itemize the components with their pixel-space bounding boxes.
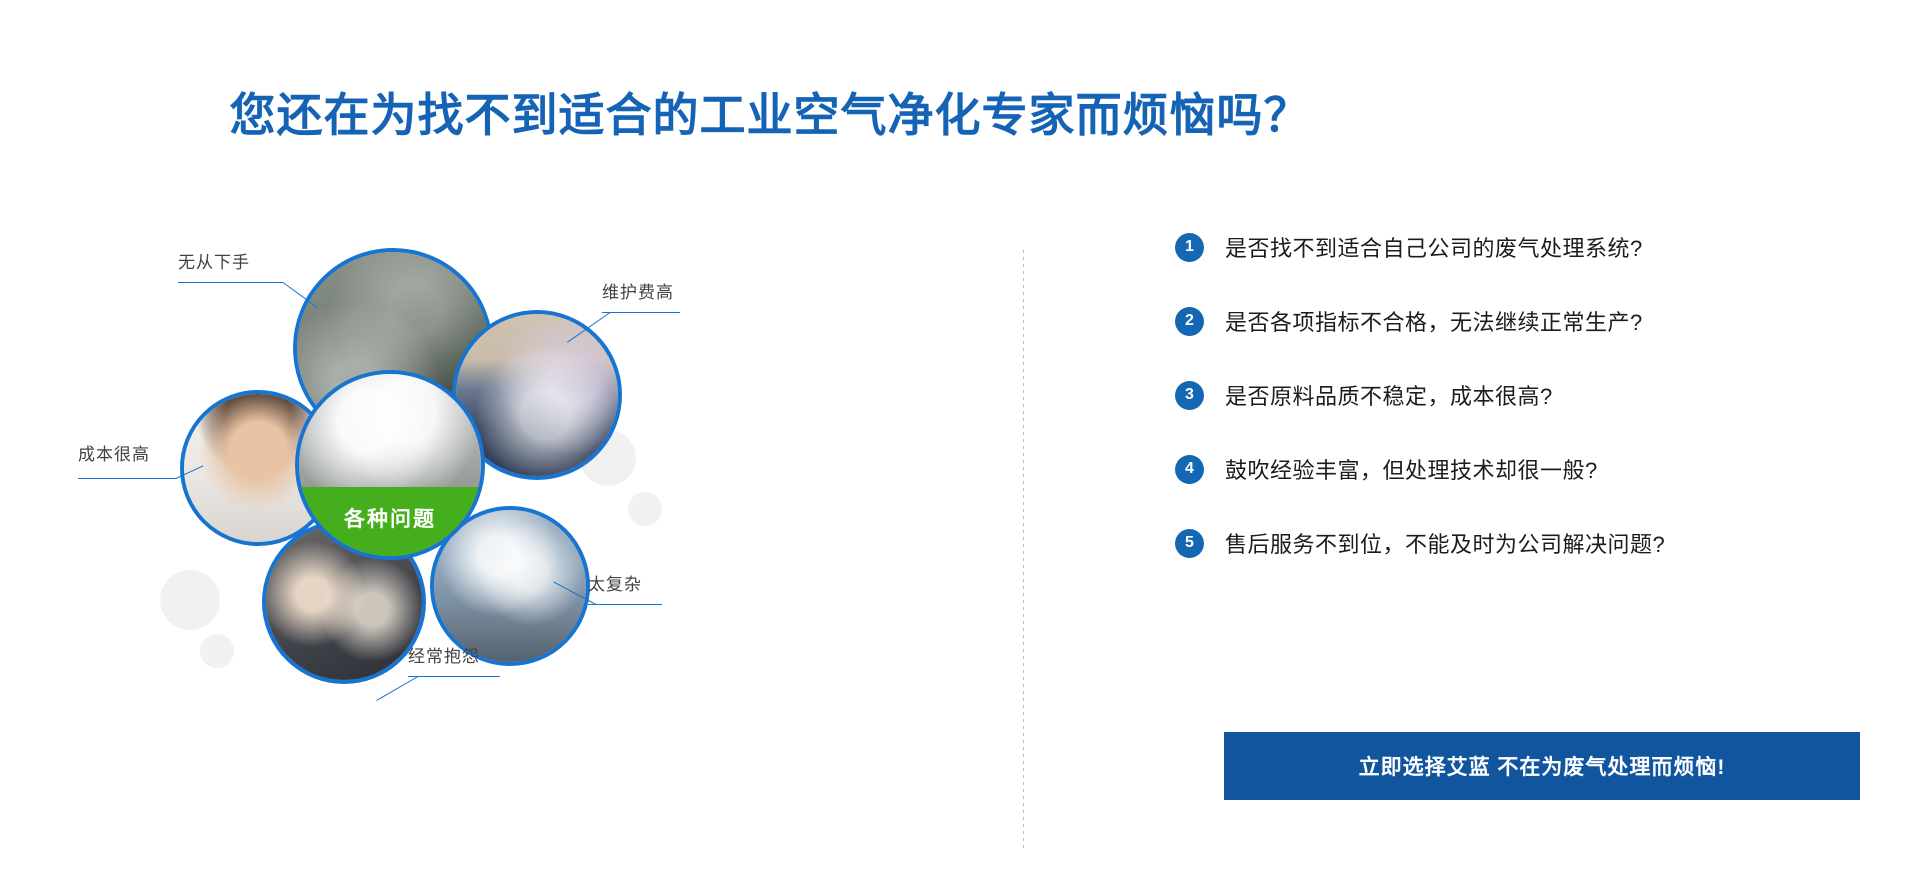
- promo-banner: 您还在为找不到适合的工业空气净化专家而烦恼吗？ 各种问题: [0, 0, 1920, 875]
- callout-label: 维护费高: [602, 278, 674, 303]
- leader-line: [408, 676, 500, 677]
- list-item: 4 鼓吹经验丰富，但处理技术却很一般?: [1175, 432, 1875, 506]
- list-item-label: 售后服务不到位，不能及时为公司解决问题?: [1225, 527, 1665, 559]
- page-title: 您还在为找不到适合的工业空气净化专家而烦恼吗？: [0, 88, 1540, 143]
- problem-list: 1 是否找不到适合自己公司的废气处理系统? 2 是否各项指标不合格，无法继续正常…: [1175, 210, 1875, 580]
- decorative-circle: [200, 634, 234, 668]
- callout-label: 经常抱怨: [408, 642, 480, 667]
- callout-label: 成本很高: [78, 440, 150, 465]
- leader-line: [78, 478, 176, 479]
- cta-button[interactable]: 立即选择艾蓝 不在为废气处理而烦恼!: [1224, 732, 1860, 800]
- bubble-center-problems: 各种问题: [295, 370, 485, 560]
- decorative-circle: [628, 492, 662, 526]
- vertical-divider: [1023, 250, 1024, 850]
- list-item-label: 是否原料品质不稳定，成本很高?: [1225, 379, 1553, 411]
- list-item-badge: 4: [1175, 455, 1204, 484]
- list-item-label: 是否各项指标不合格，无法继续正常生产?: [1225, 305, 1643, 337]
- list-item: 1 是否找不到适合自己公司的废气处理系统?: [1175, 210, 1875, 284]
- callout-label: 无从下手: [178, 248, 250, 273]
- leader-line: [178, 282, 283, 283]
- decorative-circle: [160, 570, 220, 630]
- problem-bubble-diagram: 各种问题 无从下手 维护费高 成本很高 太复杂 经常抱怨: [40, 230, 1000, 850]
- callout-label: 太复杂: [588, 570, 642, 595]
- list-item-label: 是否找不到适合自己公司的废气处理系统?: [1225, 231, 1643, 263]
- list-item-badge: 3: [1175, 381, 1204, 410]
- list-item: 3 是否原料品质不稳定，成本很高?: [1175, 358, 1875, 432]
- leader-line: [602, 312, 680, 313]
- list-item: 2 是否各项指标不合格，无法继续正常生产?: [1175, 284, 1875, 358]
- list-item-badge: 1: [1175, 233, 1204, 262]
- list-item: 5 售后服务不到位，不能及时为公司解决问题?: [1175, 506, 1875, 580]
- list-item-badge: 5: [1175, 529, 1204, 558]
- leader-line: [588, 604, 662, 605]
- list-item-label: 鼓吹经验丰富，但处理技术却很一般?: [1225, 453, 1598, 485]
- center-label: 各种问题: [299, 487, 481, 556]
- list-item-badge: 2: [1175, 307, 1204, 336]
